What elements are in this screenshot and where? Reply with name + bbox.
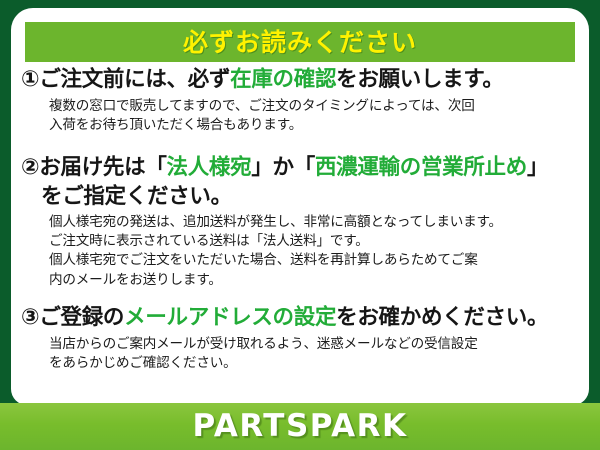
notice-item-2-text-b: 」か「 <box>251 155 315 180</box>
notice-item-2-sub-line-4: 内のメールをお送りします。 <box>49 271 581 290</box>
notice-item-1-heading: ①ご注文前には、必ず在庫の確認をお願いします。 <box>21 66 581 95</box>
notice-item-2-heading-line-1: ②お届け先は「法人様宛」か「西濃運輸の営業所止め」 <box>21 154 581 183</box>
notice-item-2-sub-line-1: 個人様宅宛の発送は、追加送料が発生し、非常に高額となってしまいます。 <box>49 213 581 232</box>
notice-item-1-sub-line-2: 入荷をお待ち頂いただく場合もあります。 <box>49 116 581 135</box>
notice-item-3-sub-line-1: 当店からのご案内メールが受け取れるよう、迷惑メールなどの受信設定 <box>49 335 581 354</box>
footer-bar: PARTSPARK <box>0 403 600 450</box>
notice-item-3-text-a: ご登録の <box>39 305 124 330</box>
notice-item-1-emphasis: 在庫の確認 <box>230 67 336 92</box>
notice-item-3: ③ご登録のメールアドレスの設定をお確かめください。 当店からのご案内メールが受け… <box>21 304 581 373</box>
notice-item-1-text-b: をお願いします。 <box>336 67 503 92</box>
spacer-1 <box>21 137 581 154</box>
notice-item-2-emphasis-1: 法人様宛 <box>167 155 252 180</box>
brand-logo: PARTSPARK <box>192 411 407 442</box>
header-title: 必ずお読みください <box>183 30 417 55</box>
notice-item-3-text-b: をお確かめください。 <box>336 305 548 330</box>
notice-item-2-text-c: 」 <box>527 155 548 180</box>
notice-item-3-number: ③ <box>21 305 39 330</box>
notice-item-3-heading: ③ご登録のメールアドレスの設定をお確かめください。 <box>21 304 581 333</box>
notice-item-1-sub-line-1: 複数の窓口で販売してますので、ご注文のタイミングによっては、次回 <box>49 97 581 116</box>
notice-item-3-sub-line-2: をあらかじめご確認ください。 <box>49 354 581 373</box>
spacer-2 <box>21 292 581 304</box>
notice-item-1: ①ご注文前には、必ず在庫の確認をお願いします。 複数の窓口で販売してますので、ご… <box>21 66 581 135</box>
notice-item-2: ②お届け先は「法人様宛」か「西濃運輸の営業所止め」 をご指定ください。 個人様宅… <box>21 154 581 290</box>
notice-item-2-text-a: お届け先は「 <box>39 155 166 180</box>
notice-item-2-sub-line-3: 個人様宅宛でご注文をいただいた場合、送料を再計算しあらためてご案 <box>49 251 581 270</box>
notice-banner: 必ずお読みください ①ご注文前には、必ず在庫の確認をお願いします。 複数の窓口で… <box>0 0 600 450</box>
notice-item-2-number: ② <box>21 155 39 180</box>
notice-item-2-emphasis-2: 西濃運輸の営業所止め <box>315 155 527 180</box>
notice-item-1-text-a: ご注文前には、必ず <box>39 67 230 92</box>
notice-item-3-emphasis: メールアドレスの設定 <box>124 305 336 330</box>
notice-item-2-sub-line-2: ご注文時に表示されている送料は「法人送料」です。 <box>49 232 581 251</box>
white-panel: 必ずお読みください ①ご注文前には、必ず在庫の確認をお願いします。 複数の窓口で… <box>11 8 589 405</box>
notice-list: ①ご注文前には、必ず在庫の確認をお願いします。 複数の窓口で販売してますので、ご… <box>11 66 589 375</box>
notice-item-2-heading-line-2: をご指定ください。 <box>41 183 581 211</box>
header-bar: 必ずお読みください <box>25 22 575 62</box>
notice-item-1-number: ① <box>21 67 39 92</box>
